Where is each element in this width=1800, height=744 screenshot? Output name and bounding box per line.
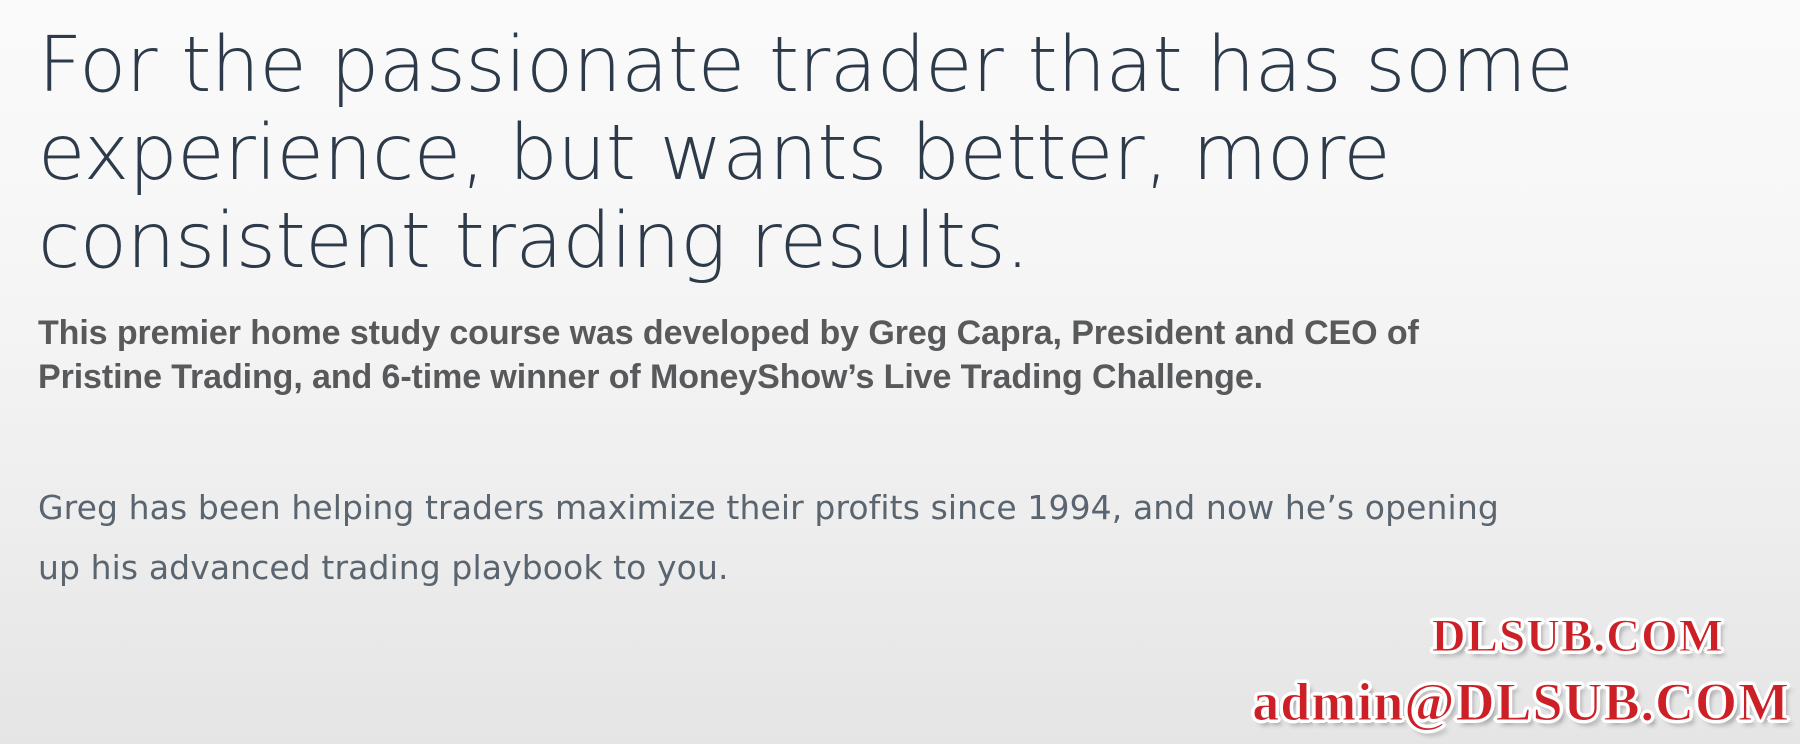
page-container: For the passionate trader that has some …: [0, 0, 1800, 744]
page-title: For the passionate trader that has some …: [38, 22, 1773, 286]
body-paragraph: Greg has been helping traders maximize t…: [38, 478, 1538, 598]
watermark-email: admin@DLSUB.COM: [1252, 675, 1790, 730]
lead-paragraph: This premier home study course was devel…: [38, 311, 1528, 399]
watermark-site-name: DLSUB.COM: [1252, 613, 1724, 661]
watermark: DLSUB.COM admin@DLSUB.COM: [1252, 613, 1790, 730]
